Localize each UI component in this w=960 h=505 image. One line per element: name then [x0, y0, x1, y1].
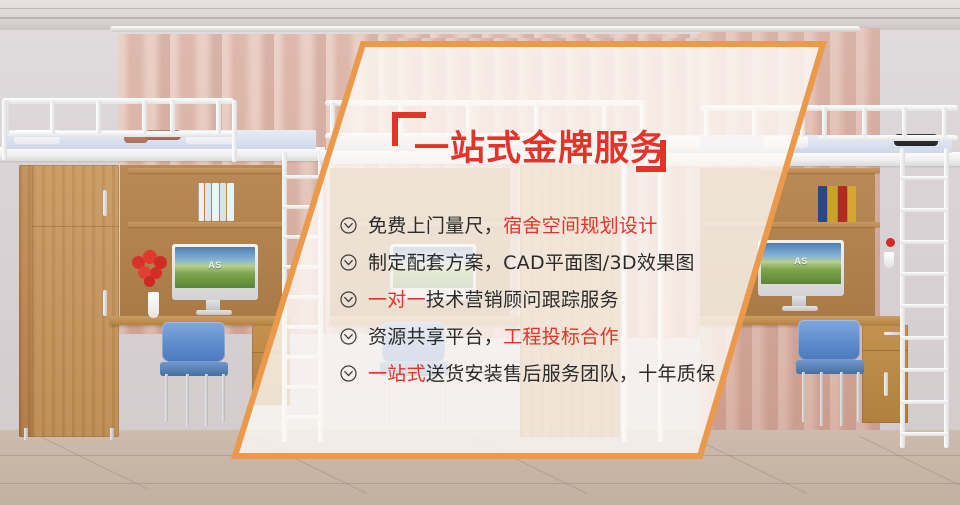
- list-item-label: 制定配套方案，CAD平面图/3D效果图: [368, 248, 695, 275]
- page-title: 一站式金牌服务: [414, 120, 666, 171]
- list-item-label: 一站式送货安装售后服务团队，十年质保: [368, 359, 715, 386]
- check-circle-icon: [340, 365, 357, 382]
- list-item-label: 免费上门量尺，宿舍空间规划设计: [368, 211, 658, 238]
- panel-content: 一站式金牌服务 免费上门量尺，宿舍空间规划设计: [0, 0, 960, 505]
- corner-bracket-bottom-right-icon: [636, 140, 666, 172]
- promo-banner: AS: [0, 0, 960, 505]
- list-item: 制定配套方案，CAD平面图/3D效果图: [340, 243, 715, 280]
- check-circle-icon: [340, 291, 357, 308]
- list-item-label: 资源共享平台，工程投标合作: [368, 322, 619, 349]
- check-circle-icon: [340, 254, 357, 271]
- list-item: 资源共享平台，工程投标合作: [340, 317, 715, 354]
- list-item: 一站式送货安装售后服务团队，十年质保: [340, 354, 715, 391]
- title-block: 一站式金牌服务: [392, 112, 692, 192]
- list-item-label: 一对一技术营销顾问跟踪服务: [368, 285, 619, 312]
- check-circle-icon: [340, 217, 357, 234]
- list-item: 一对一技术营销顾问跟踪服务: [340, 280, 715, 317]
- feature-list: 免费上门量尺，宿舍空间规划设计 制定配套方案，CAD平面图/3D效果图: [340, 206, 715, 391]
- check-circle-icon: [340, 328, 357, 345]
- list-item: 免费上门量尺，宿舍空间规划设计: [340, 206, 715, 243]
